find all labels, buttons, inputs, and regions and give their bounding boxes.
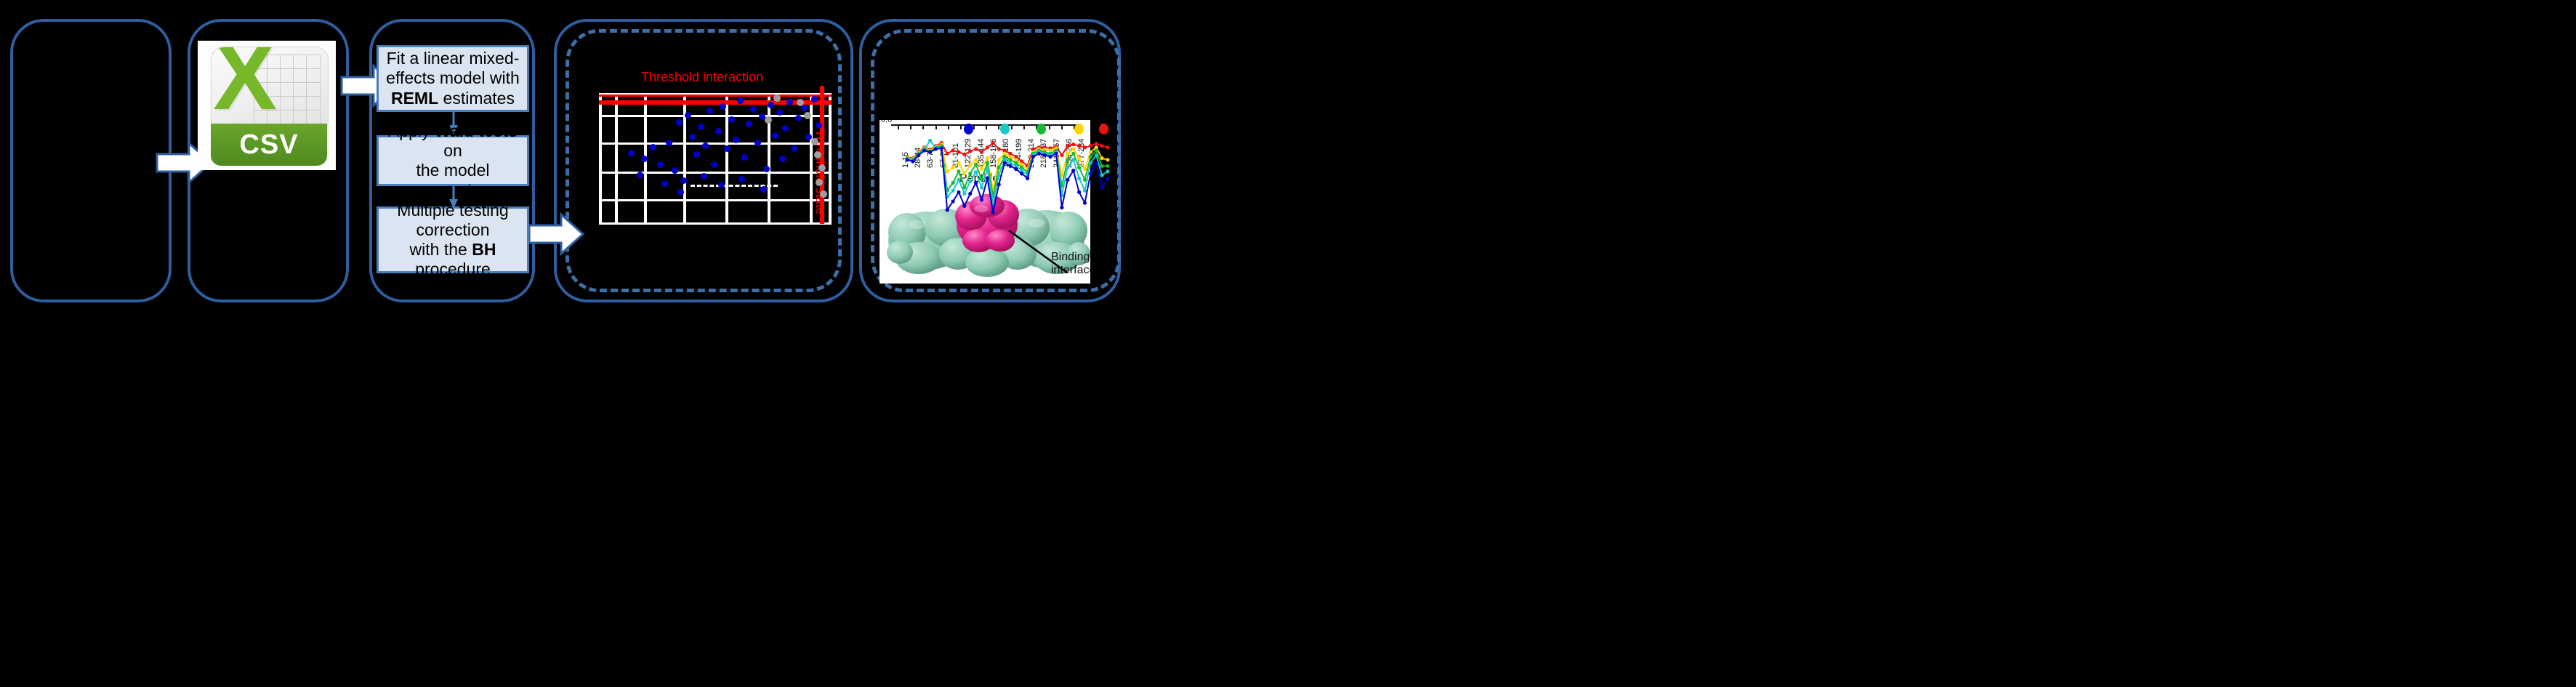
data-point	[957, 178, 960, 182]
data-point	[951, 189, 954, 193]
data-point	[1071, 152, 1075, 156]
multiple-testing-box[interactable]: Multiple testingcorrectionwith the BH pr…	[377, 206, 529, 273]
scatter-point-ns	[765, 116, 772, 124]
data-point	[1095, 153, 1098, 157]
scatter-point-ns	[773, 95, 781, 102]
data-point	[962, 153, 966, 156]
data-point	[1066, 152, 1069, 156]
scatter-point	[641, 156, 648, 162]
data-point	[1100, 144, 1104, 148]
arrow-analysis-to-scatter	[528, 212, 584, 256]
data-point	[951, 148, 954, 152]
data-point	[968, 172, 972, 175]
binding-label-line2: interface	[1051, 264, 1090, 276]
data-point	[934, 147, 938, 150]
data-point	[1020, 172, 1023, 175]
scatter-point	[772, 132, 778, 139]
data-point	[951, 199, 954, 203]
data-point	[986, 156, 989, 160]
data-point	[940, 146, 943, 150]
data-point	[1089, 144, 1092, 148]
data-point	[1077, 166, 1081, 169]
csv-file-icon: X CSV	[198, 41, 336, 170]
data-point	[1077, 156, 1081, 160]
scatter-point	[666, 140, 672, 146]
data-point	[1089, 161, 1092, 164]
scatter-point	[676, 119, 683, 126]
fit-model-box[interactable]: Fit a linear mixed-effects model withREM…	[377, 45, 529, 112]
data-point	[1008, 164, 1012, 168]
scatter-point	[680, 177, 687, 184]
y-axis-tick-label: 0.0	[881, 120, 892, 124]
scatter-point	[776, 109, 783, 116]
data-point	[922, 148, 926, 152]
scatter-point-ns	[797, 99, 804, 106]
data-point	[1037, 152, 1041, 156]
data-point	[974, 147, 978, 150]
data-point	[946, 169, 949, 173]
data-point	[917, 153, 920, 157]
data-point	[1077, 190, 1081, 194]
grid-v	[768, 93, 770, 224]
data-point	[1043, 153, 1047, 157]
interaction-scatter-plot: Threshold interaction Threshold state	[596, 70, 836, 281]
data-point	[957, 150, 960, 154]
data-point	[1100, 173, 1104, 177]
scatter-point	[724, 145, 730, 152]
data-point	[962, 192, 966, 196]
scatter-point	[786, 99, 793, 105]
scatter-point	[715, 128, 722, 134]
input-panel	[10, 19, 172, 302]
data-point	[1095, 142, 1098, 145]
data-point	[1100, 164, 1104, 168]
scatter-point	[768, 102, 774, 108]
threshold-interaction-label: Threshold interaction	[641, 70, 763, 85]
legend-dot-yellow	[1074, 124, 1084, 134]
fit-model-text: Fit a linear mixed-effects model withREM…	[379, 49, 527, 108]
data-point	[1077, 177, 1081, 180]
data-point	[1083, 167, 1087, 171]
scatter-point	[791, 145, 797, 152]
csv-label-text: CSV	[239, 129, 298, 161]
legend-dot-blue	[964, 124, 973, 134]
scatter-point	[816, 122, 822, 129]
data-point	[946, 208, 949, 212]
grid-h	[599, 199, 832, 201]
data-point	[1026, 177, 1029, 180]
data-point	[1071, 169, 1075, 172]
scatter-point	[728, 116, 735, 123]
scatter-point	[661, 180, 668, 187]
scatter-point	[677, 189, 684, 196]
data-point	[1066, 158, 1069, 161]
data-point	[928, 139, 932, 142]
scatter-point	[689, 134, 696, 140]
scatter-point	[720, 103, 726, 110]
scatter-point	[693, 151, 700, 158]
data-point	[986, 177, 989, 180]
data-point	[1054, 152, 1058, 156]
scatter-point-ns	[818, 164, 826, 172]
data-point	[997, 173, 1001, 177]
data-point	[1002, 161, 1006, 164]
data-point	[997, 147, 1001, 150]
data-point	[962, 204, 966, 208]
scatter-point	[707, 108, 713, 114]
data-point	[1060, 206, 1063, 209]
data-point	[1066, 144, 1069, 148]
data-point	[951, 166, 954, 169]
x-axis-tick	[898, 124, 899, 129]
grid-v	[615, 93, 618, 224]
data-point	[1071, 158, 1075, 161]
scatter-point	[650, 144, 656, 150]
data-point	[991, 210, 995, 214]
data-point	[974, 181, 978, 185]
data-point	[928, 150, 932, 154]
workflow-diagram: X CSV Fit a linear mixed-effects model w…	[0, 0, 2576, 687]
grid-axis-left	[599, 93, 602, 224]
data-point	[1106, 145, 1109, 149]
multiple-testing-text: Multiple testingcorrectionwith the BH pr…	[379, 201, 527, 280]
grid-v	[829, 93, 832, 224]
scatter-point	[718, 182, 725, 188]
data-point	[980, 150, 983, 154]
csv-label-band: CSV	[211, 124, 327, 166]
data-point	[974, 163, 978, 166]
scatter-point	[702, 142, 709, 149]
scatter-point	[698, 124, 704, 130]
data-point	[991, 141, 995, 145]
scatter-point	[637, 172, 643, 178]
scatter-point	[754, 140, 761, 146]
scatter-point	[779, 156, 786, 162]
data-point	[974, 158, 978, 161]
data-point	[997, 182, 1001, 186]
scatter-point	[733, 137, 739, 143]
scatter-point	[701, 173, 707, 180]
data-point	[1060, 153, 1063, 157]
data-point	[980, 177, 983, 181]
binding-interface-label: Binding interface	[1051, 251, 1090, 277]
chart-legend	[901, 124, 1114, 138]
data-point	[957, 190, 960, 194]
scatter-point	[711, 161, 717, 168]
data-point	[1089, 155, 1092, 158]
grid-h	[599, 142, 832, 145]
data-point	[968, 150, 972, 153]
data-point	[1089, 150, 1092, 154]
data-point	[911, 159, 914, 163]
data-point	[968, 192, 972, 196]
grid-v	[725, 93, 728, 224]
scatter-point-ns	[820, 190, 827, 198]
scatter-point-ns	[811, 138, 818, 145]
data-point	[1071, 147, 1075, 150]
data-point	[997, 158, 1001, 161]
legend-dot-cyan	[1000, 124, 1010, 134]
data-point	[1089, 172, 1092, 175]
data-point	[1083, 201, 1087, 205]
scatter-point	[750, 106, 757, 113]
data-point	[1100, 156, 1104, 160]
grid-h	[599, 172, 832, 174]
scatter-point	[763, 166, 770, 172]
scatter-point	[811, 96, 818, 103]
legend-dot-green	[1037, 124, 1046, 134]
data-point	[980, 167, 983, 171]
data-point	[997, 166, 1001, 169]
data-point	[905, 158, 909, 161]
scatter-point	[746, 121, 752, 127]
wald-tests-box[interactable]: Apply Wald tests onthe model parameters	[377, 135, 529, 186]
data-point	[968, 164, 972, 167]
data-point	[986, 145, 989, 149]
data-point	[1095, 148, 1098, 152]
scatter-point-ns	[816, 179, 823, 186]
data-point	[957, 161, 960, 164]
data-point	[962, 172, 966, 175]
scatter-point	[782, 125, 789, 132]
scatter-point	[657, 161, 664, 168]
data-point	[1077, 144, 1081, 148]
peptide-line-chart	[901, 129, 1114, 217]
data-point	[1106, 169, 1109, 173]
scatter-point	[738, 176, 745, 182]
data-point	[1071, 142, 1075, 146]
data-point	[1100, 185, 1104, 189]
data-point	[1095, 161, 1098, 164]
data-point	[1106, 177, 1109, 180]
scatter-point	[685, 112, 691, 118]
scatter-point	[672, 167, 678, 174]
data-point	[1014, 167, 1018, 171]
data-point	[974, 170, 978, 174]
data-point	[980, 198, 983, 201]
excel-x-letter: X	[213, 47, 277, 124]
data-point	[968, 180, 972, 183]
scatter-point	[628, 150, 635, 156]
scatter-point	[760, 186, 767, 193]
data-point	[980, 185, 983, 189]
data-point	[1083, 189, 1087, 193]
scatter-point	[737, 97, 744, 104]
data-point	[1066, 178, 1069, 182]
data-point	[986, 167, 989, 171]
data-point	[986, 161, 989, 164]
data-point	[1049, 155, 1052, 158]
legend-dot-red	[1099, 124, 1108, 134]
data-point	[1106, 158, 1109, 161]
data-point	[951, 181, 954, 185]
scatter-point-ns	[814, 151, 821, 158]
data-point	[1083, 145, 1087, 149]
scatter-point	[741, 154, 748, 161]
data-point	[1106, 164, 1109, 168]
grid-h	[599, 222, 832, 225]
scatter-point	[795, 115, 802, 121]
data-point	[957, 169, 960, 173]
data-point	[946, 152, 949, 156]
binding-label-line1: Binding	[1051, 251, 1090, 263]
scatter-point-ns	[804, 112, 811, 119]
data-point	[1066, 166, 1069, 169]
threshold-interaction-line-2	[599, 95, 832, 97]
data-point	[1031, 155, 1035, 158]
